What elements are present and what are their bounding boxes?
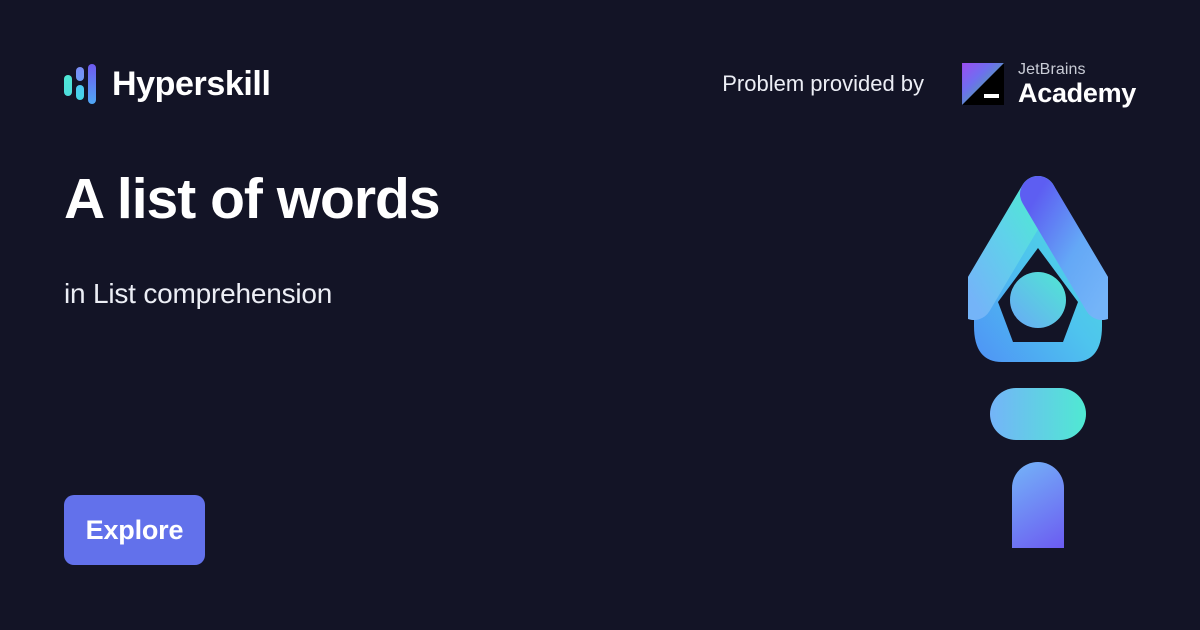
provided-by-label: Problem provided by xyxy=(722,71,924,97)
main-content: A list of words in List comprehension xyxy=(64,168,764,310)
logo-bar-left xyxy=(64,75,72,96)
header: Hyperskill Problem provided by JetBrains… xyxy=(0,0,1200,168)
page-title: A list of words xyxy=(64,168,764,231)
logo-bar-mid-top xyxy=(76,67,84,81)
hyperskill-logo-icon xyxy=(64,64,94,104)
jetbrains-dash-mark xyxy=(984,94,999,98)
pin-bottom-bar xyxy=(1012,462,1064,548)
jetbrains-square-icon xyxy=(962,63,1004,105)
hyperskill-wordmark: Hyperskill xyxy=(112,65,271,104)
hyperskill-pen-nib-icon xyxy=(968,176,1108,548)
jetbrains-label: JetBrains xyxy=(1018,62,1136,78)
topic-subtitle: in List comprehension xyxy=(64,278,764,310)
logo-bar-mid-bottom xyxy=(76,85,84,100)
explore-button[interactable]: Explore xyxy=(64,495,205,565)
hyperskill-brand[interactable]: Hyperskill xyxy=(64,64,271,104)
jetbrains-academy-logo[interactable]: JetBrains Academy xyxy=(962,62,1136,107)
provider-block: Problem provided by JetBrains Academy xyxy=(722,62,1136,107)
jetbrains-academy-wordmark: JetBrains Academy xyxy=(1018,62,1136,107)
pin-middle-pill xyxy=(990,388,1086,440)
academy-label: Academy xyxy=(1018,80,1136,107)
logo-bar-right xyxy=(88,64,96,104)
nib-center-dot xyxy=(1010,272,1066,328)
share-card: Hyperskill Problem provided by JetBrains… xyxy=(0,0,1200,630)
jetbrains-gradient-triangle xyxy=(962,63,1004,105)
